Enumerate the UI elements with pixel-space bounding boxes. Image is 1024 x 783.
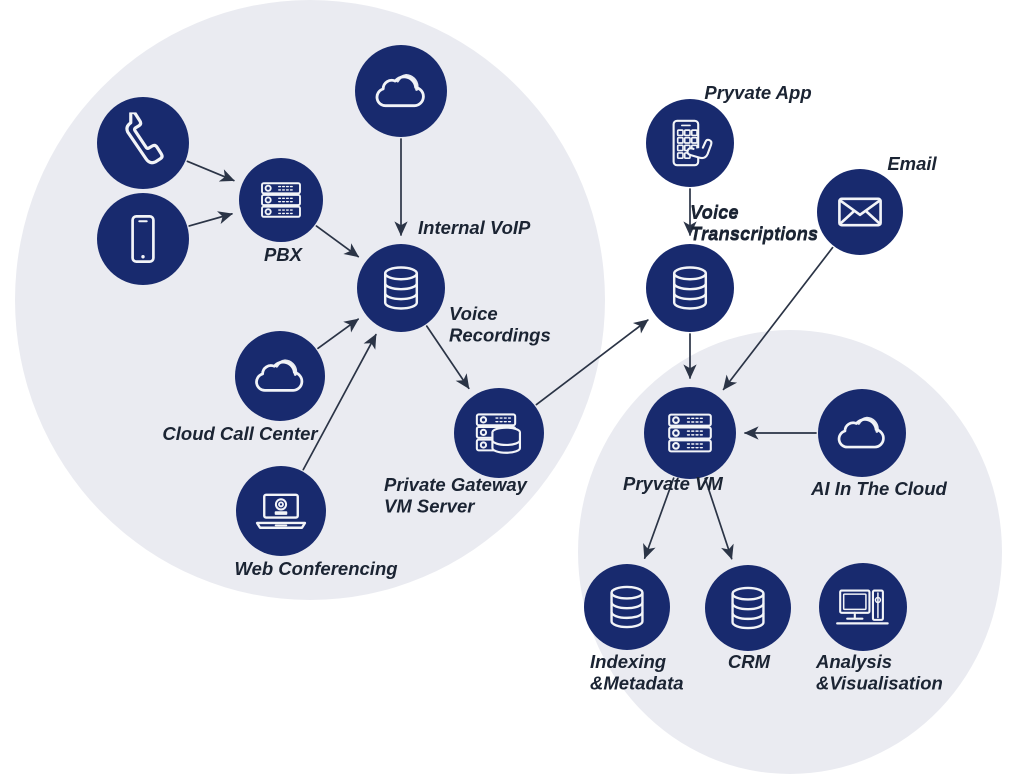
node-pryvate-app[interactable]: Pryvate App [646, 82, 812, 187]
node-label-pryvate-vm: Pryvate VM [623, 473, 723, 494]
node-circle [819, 563, 907, 651]
node-circle [236, 466, 326, 556]
node-email[interactable]: Email [817, 153, 938, 255]
node-mobile[interactable] [97, 193, 189, 285]
node-circle [817, 169, 903, 255]
node-circle [355, 45, 447, 137]
node-circle [644, 387, 736, 479]
node-circle [235, 331, 325, 421]
cloud-cluster [578, 330, 1002, 774]
node-cloud-top[interactable] [355, 45, 447, 137]
edge-label-internal-voip: Internal VoIP [418, 217, 531, 238]
node-label-web-conf: Web Conferencing [234, 558, 397, 579]
node-label-pryvate-app: Pryvate App [704, 82, 811, 103]
diagram-svg: PBXVoiceRecordingsCloud Call CenterWeb C… [0, 0, 1024, 783]
diagram-canvas: PBXVoiceRecordingsCloud Call CenterWeb C… [0, 0, 1024, 783]
node-phone[interactable] [97, 97, 189, 189]
node-label-email: Email [887, 153, 937, 174]
node-label-ai-cloud: AI In The Cloud [810, 478, 947, 499]
node-label-cloud-call: Cloud Call Center [162, 423, 319, 444]
node-label-pbx: PBX [264, 244, 304, 265]
node-circle [818, 389, 906, 477]
node-circle [97, 193, 189, 285]
node-circle [239, 158, 323, 242]
edge-label-voice-transcriptions: VoiceTranscriptions [690, 202, 818, 245]
node-label-crm: CRM [728, 651, 771, 672]
